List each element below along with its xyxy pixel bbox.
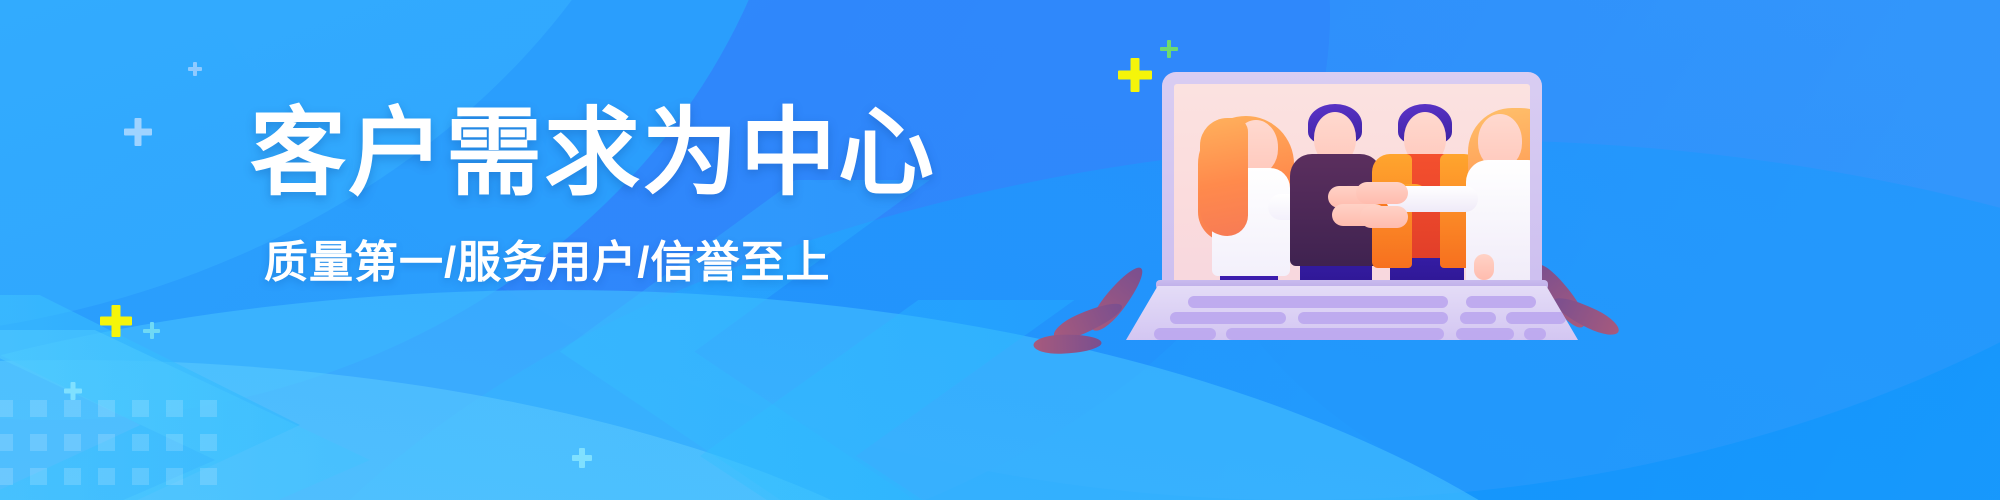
- grid-dot: [132, 434, 149, 451]
- keyboard-key: [1298, 312, 1448, 324]
- laptop-illustration: [1162, 72, 1592, 340]
- plus-yellow-large-bottom-icon: [100, 305, 132, 337]
- promo-banner: 客户需求为中心 质量第一/服务用户/信誉至上: [0, 0, 2000, 500]
- grid-dot: [166, 400, 183, 417]
- grid-dot: [98, 434, 115, 451]
- hand-4: [1360, 206, 1408, 228]
- plus-yellow-large-top-icon: [1118, 58, 1152, 92]
- person-4-hand-side: [1474, 254, 1494, 280]
- banner-subline: 质量第一/服务用户/信誉至上: [264, 239, 870, 287]
- keyboard-key: [1524, 328, 1546, 340]
- leaf-left-3: [1033, 333, 1102, 354]
- keyboard-key: [1170, 312, 1286, 324]
- grid-dot: [30, 400, 47, 417]
- chevron-accent-left-2: [0, 330, 370, 500]
- grid-dot: [64, 434, 81, 451]
- keyboard-key: [1154, 328, 1216, 340]
- person-4: [1452, 96, 1530, 292]
- grid-dot: [0, 400, 13, 417]
- grid-dot: [0, 468, 13, 485]
- keyboard-key: [1188, 296, 1448, 308]
- plus-cyan-medium-left-icon: [64, 382, 82, 400]
- grid-dot: [30, 468, 47, 485]
- background-wave-lower-left-2: [0, 360, 1120, 500]
- hand-2: [1356, 182, 1408, 204]
- grid-dot: [166, 434, 183, 451]
- grid-dot: [64, 468, 81, 485]
- keyboard-key: [1226, 328, 1444, 340]
- grid-dot: [0, 434, 13, 451]
- laptop-screen: [1174, 84, 1530, 292]
- plus-cyan-center-icon: [572, 448, 592, 468]
- plus-white-soft-upper-icon: [124, 118, 152, 146]
- laptop-keyboard-base: [1126, 286, 1578, 340]
- grid-dot: [200, 434, 217, 451]
- grid-dot: [98, 468, 115, 485]
- keyboard-key: [1506, 312, 1566, 324]
- plus-cyan-small-bottom-icon: [143, 322, 160, 339]
- grid-dot: [64, 400, 81, 417]
- grid-dot: [30, 434, 47, 451]
- banner-headline: 客户需求为中心: [250, 104, 870, 205]
- keyboard-key: [1456, 328, 1514, 340]
- grid-dot: [132, 468, 149, 485]
- keyboard-key: [1460, 312, 1496, 324]
- banner-text-block: 客户需求为中心 质量第一/服务用户/信誉至上: [250, 104, 870, 287]
- grid-dot: [166, 468, 183, 485]
- grid-dot: [200, 400, 217, 417]
- person-1-hair-front: [1200, 118, 1248, 236]
- plus-green-small-top-icon: [1160, 40, 1178, 58]
- chevron-accent-left-1: [0, 295, 300, 500]
- plus-white-tiny-upper-icon: [188, 62, 202, 76]
- keyboard-key: [1466, 296, 1536, 308]
- laptop-lid: [1162, 72, 1542, 294]
- hand-stack: [1326, 180, 1412, 234]
- grid-dot: [132, 400, 149, 417]
- grid-dot: [200, 468, 217, 485]
- grid-dot: [98, 400, 115, 417]
